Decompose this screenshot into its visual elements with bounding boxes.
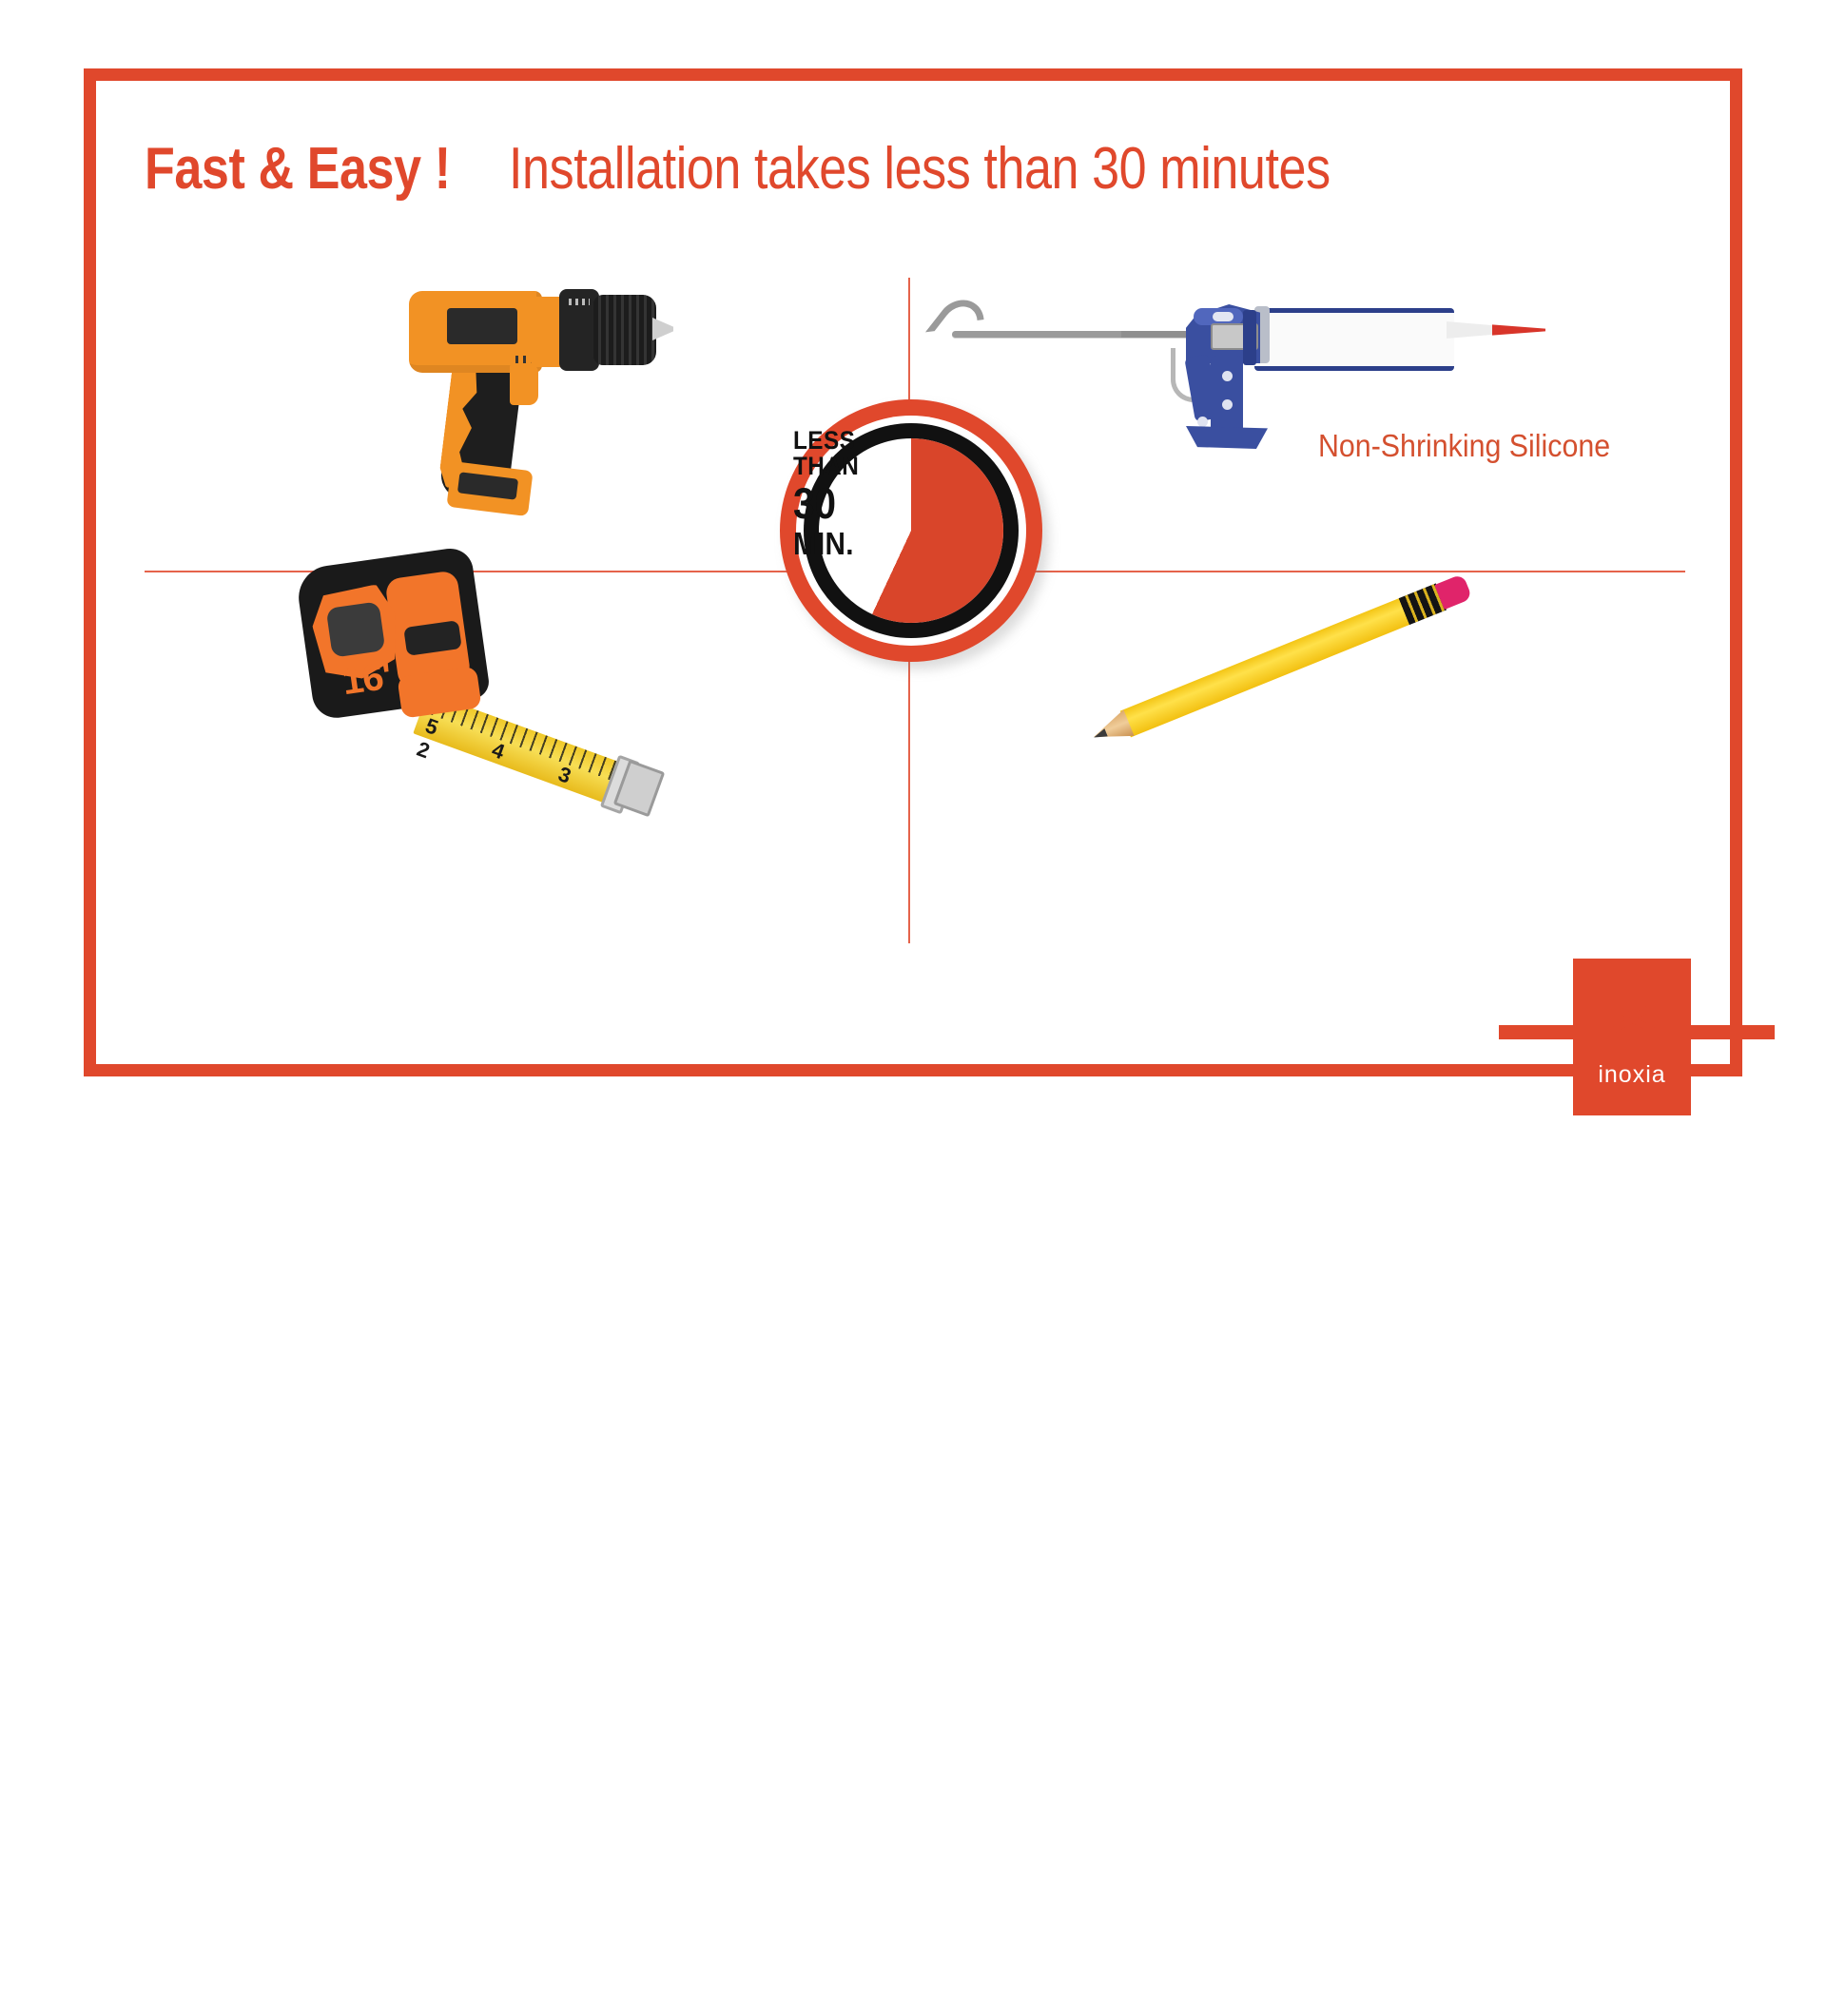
headline-bold: Fast & Easy ! [145, 133, 451, 205]
less-than-30-min-badge: LESS THAN 30 MIN. [780, 399, 1056, 675]
logo-wordmark: inoxia [1577, 1061, 1687, 1089]
page-title: Fast & Easy ! Installation takes less th… [145, 133, 1695, 205]
silicone-caption: Non-Shrinking Silicone [1318, 428, 1610, 464]
tape-length-label: 16' [340, 655, 394, 705]
badge-line-4: MIN. [793, 528, 875, 559]
hourglass-bowtie-icon [1596, 979, 1670, 1057]
badge-line-3: 30 [793, 482, 875, 525]
tape-measure-icon: 5 4 3 2 16' [285, 533, 666, 818]
caulking-gun-icon [908, 264, 1336, 397]
cordless-drill-icon [398, 264, 683, 512]
headline-light: Installation takes less than 30 minutes [509, 133, 1331, 205]
poster-canvas: Fast & Easy ! Installation takes less th… [0, 0, 1826, 1141]
badge-line-1: LESS [793, 428, 875, 454]
carpenter-pencil-icon [1094, 666, 1522, 856]
badge-line-2: THAN [793, 454, 875, 479]
